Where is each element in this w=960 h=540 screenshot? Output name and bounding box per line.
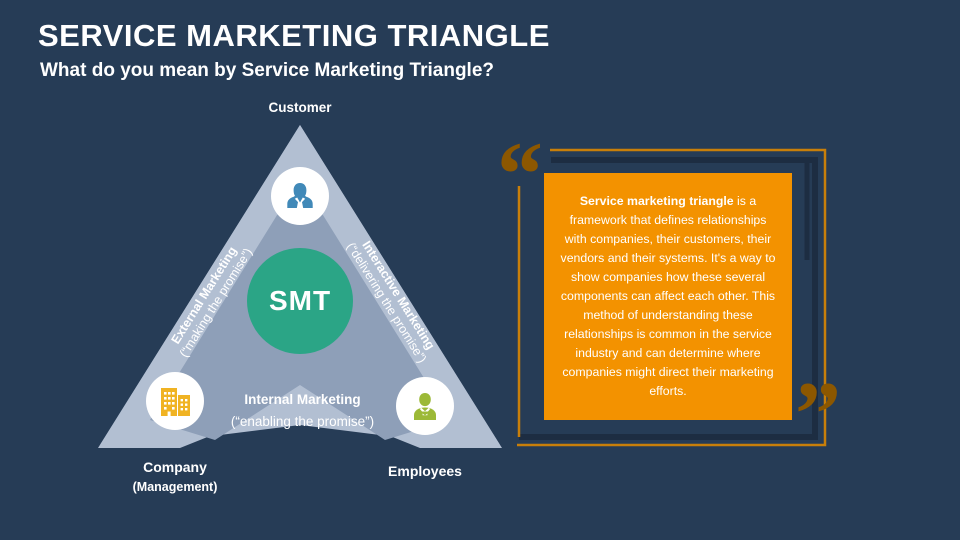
slide-canvas: SERVICE MARKETING TRIANGLE What do you m… [0,0,960,540]
node-customer-label: Customer [200,99,400,117]
company-building-icon [157,384,193,418]
customer-person-icon [282,178,318,214]
side-label-internal-marketing: Internal Marketing (“enabling the promis… [195,392,410,429]
quote-close-mark: ” [795,368,841,460]
node-company-sublabel: (Management) [85,479,265,496]
quote-body-text: is a framework that defines relationship… [561,194,776,398]
page-title: SERVICE MARKETING TRIANGLE [38,18,550,54]
smt-center-circle: SMT [247,248,353,354]
quote-body-box: Service marketing triangle is a framewor… [544,173,792,420]
smt-center-label: SMT [269,285,331,317]
page-subtitle: What do you mean by Service Marketing Tr… [40,60,494,82]
employee-person-icon [408,389,442,423]
quote-bold-lead: Service marketing triangle [580,194,734,208]
node-employees-label: Employees [340,462,510,481]
service-marketing-triangle-diagram: SMT Customer [90,100,510,510]
node-customer[interactable] [271,167,329,225]
quote-open-mark: “ [497,128,543,220]
quote-text: Service marketing triangle is a framewor… [544,192,792,402]
node-company-label: Company (Management) [85,458,265,496]
quote-panel: “ Service marketing triangle is a framew… [495,140,840,470]
